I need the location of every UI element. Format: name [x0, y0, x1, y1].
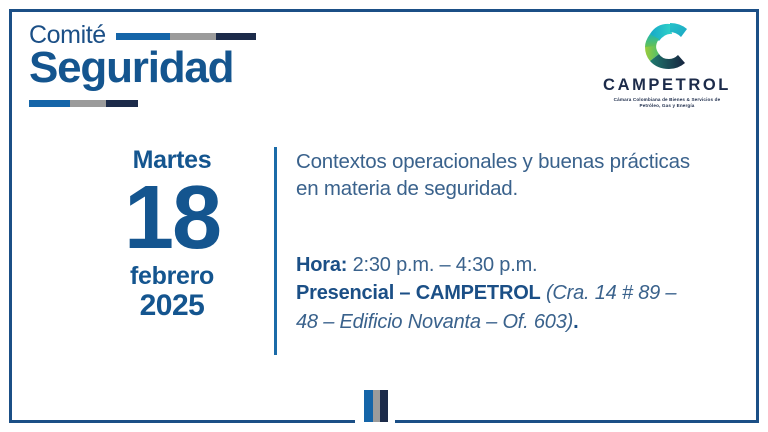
- bar-segment-gray: [373, 390, 380, 422]
- campetrol-tagline-line2: Petróleo, Gas y Energía: [600, 103, 734, 109]
- event-venue-line: Presencial – CAMPETROL (Cra. 14 # 89 – 4…: [296, 279, 696, 336]
- campetrol-logo: CAMPETROL Cámara Colombiana de Bienes & …: [600, 20, 734, 109]
- campetrol-tagline-line1: Cámara Colombiana de Bienes & Servicios …: [600, 97, 734, 103]
- modality-label: Presencial – CAMPETROL: [296, 282, 541, 304]
- event-details: Hora: 2:30 p.m. – 4:30 p.m. Presencial –…: [296, 251, 696, 336]
- date-month: febrero: [96, 264, 248, 289]
- event-topic: Contextos operacionales y buenas práctic…: [296, 148, 696, 203]
- event-date-block: Martes 18 febrero 2025: [96, 148, 248, 321]
- venue-period: .: [573, 311, 578, 333]
- campetrol-wordmark: CAMPETROL: [600, 77, 734, 94]
- bar-segment-navy: [380, 390, 388, 422]
- bottom-tricolor-bar: [364, 390, 388, 422]
- slide-canvas: Comité Seguridad: [0, 0, 768, 432]
- bar-segment-blue: [29, 100, 70, 107]
- event-content-block: Contextos operacionales y buenas práctic…: [296, 148, 696, 336]
- date-day: 18: [96, 176, 248, 262]
- bar-segment-blue: [116, 33, 170, 40]
- event-time-line: Hora: 2:30 p.m. – 4:30 p.m.: [296, 251, 696, 279]
- campetrol-tagline: Cámara Colombiana de Bienes & Servicios …: [600, 97, 734, 109]
- title-tricolor-bar: [29, 100, 138, 107]
- bar-segment-gray: [70, 100, 106, 107]
- time-label: Hora:: [296, 254, 347, 276]
- bar-segment-navy: [106, 100, 138, 107]
- date-year: 2025: [96, 291, 248, 321]
- bar-segment-navy: [216, 33, 256, 40]
- kicker-tricolor-bar: [116, 33, 256, 40]
- header: Comité Seguridad: [29, 22, 449, 107]
- campetrol-c-mark-icon: [637, 20, 697, 72]
- vertical-divider: [274, 147, 277, 355]
- page-title: Seguridad: [29, 46, 449, 91]
- bar-segment-blue: [364, 390, 373, 422]
- time-value: 2:30 p.m. – 4:30 p.m.: [353, 254, 538, 276]
- bar-segment-gray: [170, 33, 216, 40]
